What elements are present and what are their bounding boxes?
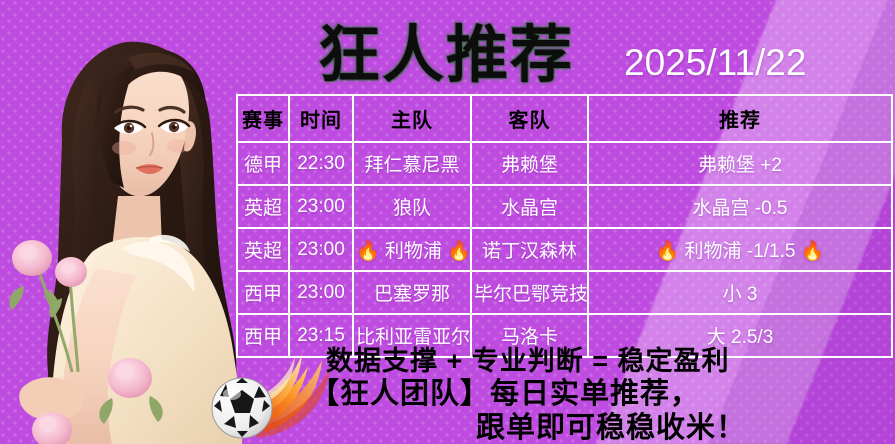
- poster-date: 2025/11/22: [624, 40, 806, 86]
- cell-time: 23:00: [289, 271, 353, 314]
- cell-away-team: 水晶宫: [471, 185, 588, 228]
- cell-league: 西甲: [237, 271, 289, 314]
- table-row: 英超 23:00 狼队 水晶宫 水晶宫 -0.5: [237, 185, 892, 228]
- slogan-block: 数据支撑 + 专业判断 = 稳定盈利 【狂人团队】每日实单推荐， 跟单即可稳稳收…: [0, 345, 895, 444]
- column-header-home-team: 主队: [353, 95, 471, 142]
- matches-table: 赛事 时间 主队 客队 推荐 德甲 22:30 拜仁慕尼黑 弗赖堡 弗赖堡 +2…: [236, 94, 893, 358]
- table-row: 西甲 23:00 巴塞罗那 毕尔巴鄂竞技 小 3: [237, 271, 892, 314]
- cell-time: 23:00: [289, 185, 353, 228]
- page-title: 狂人推荐: [318, 20, 618, 92]
- cell-pick: 水晶宫 -0.5: [588, 185, 892, 228]
- cell-home-team: 拜仁慕尼黑: [353, 142, 471, 185]
- cell-time: 23:00: [289, 228, 353, 271]
- slogan-line-1: 数据支撑 + 专业判断 = 稳定盈利: [0, 345, 895, 377]
- slogan-line-2: 【狂人团队】每日实单推荐，: [0, 377, 895, 411]
- cell-home-team: 巴塞罗那: [353, 271, 471, 314]
- cell-away-team: 诺丁汉森林: [471, 228, 588, 271]
- cell-away-team: 弗赖堡: [471, 142, 588, 185]
- slogan-line-3: 跟单即可稳稳收米！: [0, 411, 895, 444]
- table-row: 德甲 22:30 拜仁慕尼黑 弗赖堡 弗赖堡 +2: [237, 142, 892, 185]
- column-header-pick: 推荐: [588, 95, 892, 142]
- promo-poster: 狂人推荐 2025/11/22 赛事 时间 主队 客队 推荐 德甲 22:30 …: [0, 0, 895, 444]
- table-header-row: 赛事 时间 主队 客队 推荐: [237, 95, 892, 142]
- cell-time: 22:30: [289, 142, 353, 185]
- cell-pick: 弗赖堡 +2: [588, 142, 892, 185]
- cell-home-team: 🔥 利物浦 🔥: [353, 228, 471, 271]
- cell-league: 德甲: [237, 142, 289, 185]
- column-header-away-team: 客队: [471, 95, 588, 142]
- cell-pick: 小 3: [588, 271, 892, 314]
- table-row: 英超 23:00 🔥 利物浦 🔥 诺丁汉森林 🔥 利物浦 -1/1.5 🔥: [237, 228, 892, 271]
- column-header-time: 时间: [289, 95, 353, 142]
- cell-home-team: 狼队: [353, 185, 471, 228]
- column-header-league: 赛事: [237, 95, 289, 142]
- cell-away-team: 毕尔巴鄂竞技: [471, 271, 588, 314]
- cell-league: 英超: [237, 228, 289, 271]
- cell-pick: 🔥 利物浦 -1/1.5 🔥: [588, 228, 892, 271]
- cell-league: 英超: [237, 185, 289, 228]
